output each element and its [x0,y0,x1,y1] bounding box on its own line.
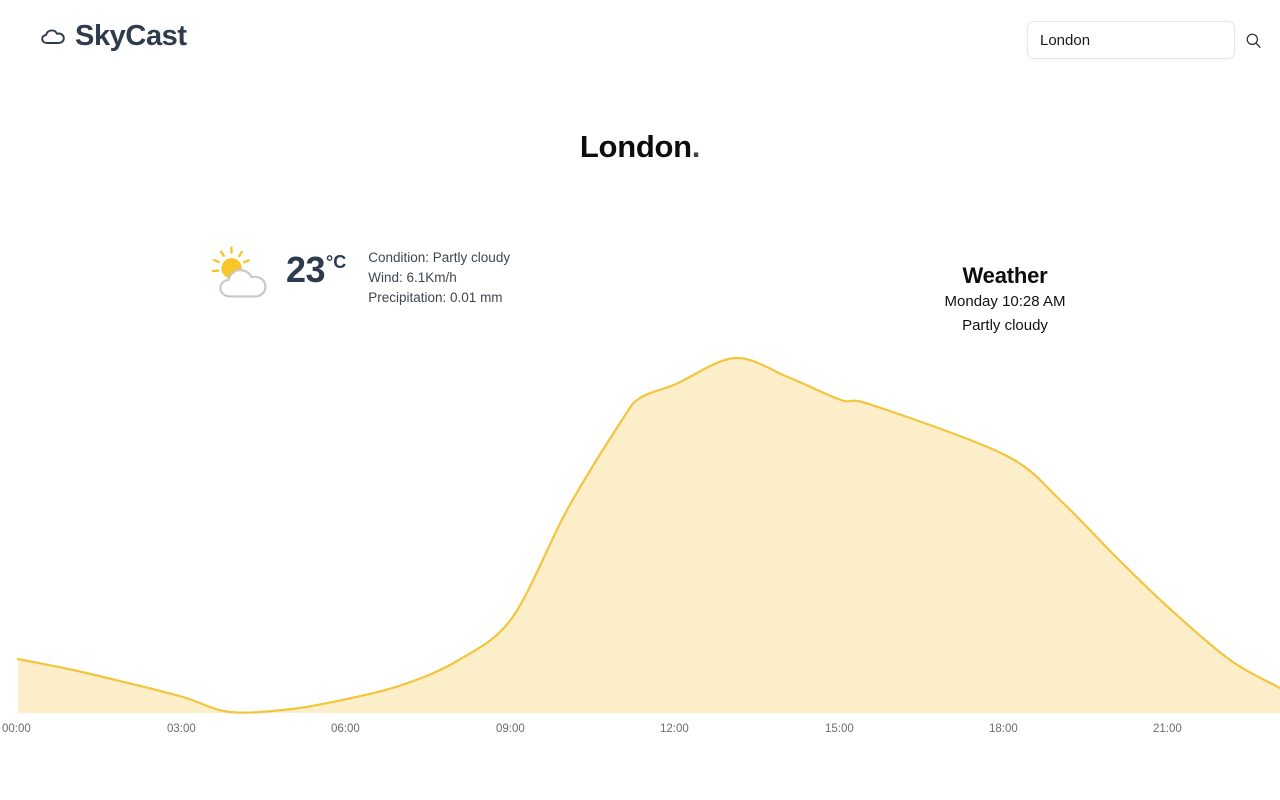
page-title-text: London [580,129,692,164]
app-header: SkyCast [0,0,1280,82]
search-box[interactable] [1027,21,1235,59]
partly-cloudy-icon [210,246,272,304]
search-icon[interactable] [1245,32,1262,49]
weather-summary-datetime: Monday 10:28 AM [880,290,1130,314]
temperature-display: 23 °C [286,252,346,288]
x-axis-tick-label: 15:00 [825,722,854,736]
brand-name: SkyCast [75,22,187,51]
precipitation-line: Precipitation: 0.01 mm [368,288,510,308]
current-conditions: 23 °C Condition: Partly cloudy Wind: 6.1… [0,240,1280,320]
page-title-dot: . [692,129,700,164]
chart-x-axis: 00:0003:0006:0009:0012:0015:0018:0021:00 [0,722,1280,742]
weather-summary-heading: Weather [880,262,1130,290]
search-input[interactable] [1040,22,1239,58]
x-axis-tick-label: 18:00 [989,722,1018,736]
wind-line: Wind: 6.1Km/h [368,268,510,288]
weather-summary: Weather Monday 10:28 AM Partly cloudy [880,262,1130,338]
x-axis-tick-label: 09:00 [496,722,525,736]
cloud-icon [40,24,66,50]
x-axis-tick-label: 00:00 [2,722,31,736]
x-axis-tick-label: 12:00 [660,722,689,736]
temperature-unit: °C [326,253,346,271]
current-conditions-left: 23 °C Condition: Partly cloudy Wind: 6.1… [210,240,510,308]
x-axis-tick-label: 03:00 [167,722,196,736]
temperature-chart [0,330,1280,720]
current-details: Condition: Partly cloudy Wind: 6.1Km/h P… [368,248,510,308]
weather-app: SkyCast London. [0,0,1280,800]
x-axis-tick-label: 21:00 [1153,722,1182,736]
page-title: London. [0,128,1280,166]
chart-area-fill [18,358,1280,713]
x-axis-tick-label: 06:00 [331,722,360,736]
temperature-value: 23 [286,252,325,288]
condition-line: Condition: Partly cloudy [368,248,510,268]
brand-logo[interactable]: SkyCast [40,22,187,51]
